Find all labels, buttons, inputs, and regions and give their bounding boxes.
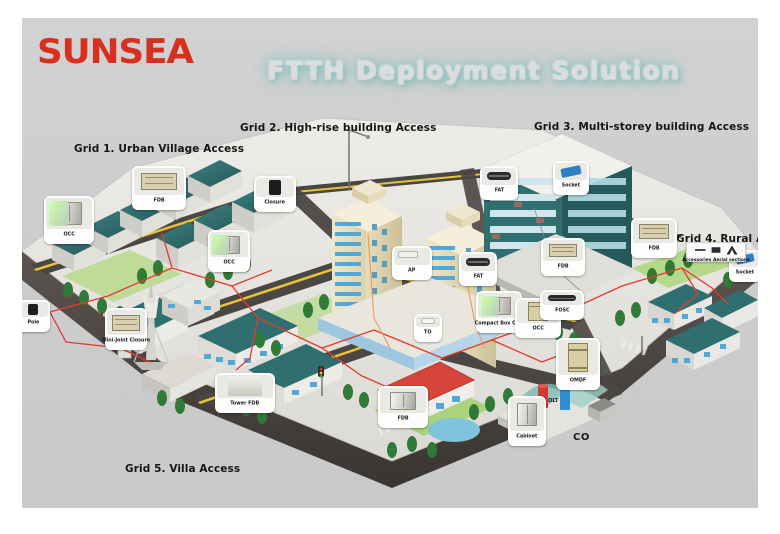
splice-tray-icon — [380, 388, 426, 413]
callout-closure-village[interactable]: Closure — [254, 176, 296, 212]
city-base-svg — [22, 18, 758, 508]
grid-label-villa: Grid 5. Villa Access — [125, 463, 240, 475]
callout-fdb-villa[interactable]: FDB — [378, 386, 428, 428]
callout-occ-village[interactable]: OCC — [44, 196, 94, 244]
callout-fat-multistorey[interactable]: FAT — [480, 166, 518, 200]
callout-label: Pole — [27, 318, 39, 326]
hook-icon — [727, 246, 738, 255]
callout-fosc-south[interactable]: FOSC — [540, 290, 584, 320]
callout-fat-highrise[interactable]: FAT — [459, 252, 497, 286]
callout-label: FDB — [153, 196, 164, 204]
callout-ap-highrise[interactable]: AP — [392, 246, 432, 280]
callout-label: Cabinet — [516, 432, 537, 440]
callout-tower-fdb[interactable]: Tower FDB — [215, 373, 275, 413]
callout-label: Socket — [736, 268, 754, 276]
tower-cabinet-icon — [217, 375, 273, 398]
access-point-icon — [394, 248, 430, 265]
callout-label: FDB — [648, 244, 659, 252]
cabinet-icon — [478, 293, 520, 318]
closure-icon — [256, 178, 294, 197]
callout-pole-west[interactable]: Pole — [22, 300, 50, 332]
splice-tray-icon — [633, 220, 675, 243]
callout-label: Closure — [265, 198, 286, 206]
fat-icon — [461, 254, 495, 271]
grid-label-multi-storey: Grid 3. Multi-storey building Access — [534, 121, 749, 133]
callout-occ-street[interactable]: OCC — [208, 230, 250, 272]
callout-fdb-village[interactable]: FDB — [132, 166, 186, 210]
callout-socket-multistorey[interactable]: Socket — [553, 161, 589, 195]
callout-label: OMDF — [570, 376, 586, 384]
accessories-label: Accessories Aerial sections — [682, 257, 749, 262]
splice-tray-icon — [134, 168, 184, 195]
caption-olt: OLT — [548, 397, 558, 404]
cabinet-icon — [210, 232, 248, 257]
callout-to-highrise[interactable]: TO — [414, 314, 442, 342]
callout-mini-joint-closure[interactable]: Mini-Joint Closure — [105, 308, 147, 350]
callout-label: Mini-Joint Closure — [102, 336, 150, 344]
callout-label: Tower FDB — [231, 399, 260, 407]
bracket-icon — [711, 246, 722, 255]
cabinet-icon — [46, 198, 92, 229]
caption-central-office: CO — [573, 432, 590, 443]
closure-icon — [542, 292, 582, 305]
cabinet-icon — [510, 398, 544, 431]
callout-cabinet-co[interactable]: Cabinet — [508, 396, 546, 446]
pole-icon — [22, 302, 48, 317]
callout-label: AP — [408, 266, 415, 274]
clamp-icon — [695, 246, 706, 255]
splice-tray-icon — [543, 240, 583, 261]
callout-fdb-rural[interactable]: FDB — [631, 218, 677, 258]
callout-label: TO — [424, 328, 431, 336]
accessories-aerial-sections-box[interactable]: Accessories Aerial sections — [686, 242, 746, 262]
callout-label: FOSC — [555, 306, 570, 314]
callout-label: FDB — [557, 262, 568, 270]
odf-icon — [558, 340, 598, 375]
accessory-icons — [695, 243, 738, 257]
callout-label: Socket — [562, 181, 580, 189]
closure-icon — [107, 310, 145, 335]
isometric-city-illustration — [22, 18, 758, 508]
callout-label: OCC — [532, 324, 543, 332]
callout-label: FAT — [473, 272, 482, 280]
callout-label: OCC — [63, 230, 74, 238]
fat-icon — [482, 168, 516, 185]
callout-label: FAT — [494, 186, 503, 194]
socket-icon — [555, 163, 587, 180]
grid-label-high-rise: Grid 2. High-rise building Access — [240, 122, 437, 134]
poster-panel: SUNSEA FTTH Deployment Solution — [22, 18, 758, 508]
poster-canvas: SUNSEA FTTH Deployment Solution — [0, 0, 780, 534]
terminal-outlet-icon — [416, 316, 440, 327]
callout-label: OCC — [223, 258, 234, 266]
grid-label-urban-village: Grid 1. Urban Village Access — [74, 143, 244, 155]
callout-omdf-south[interactable]: OMDF — [556, 338, 600, 390]
callout-label: FDB — [397, 414, 408, 422]
callout-fdb-multistorey[interactable]: FDB — [541, 238, 585, 276]
